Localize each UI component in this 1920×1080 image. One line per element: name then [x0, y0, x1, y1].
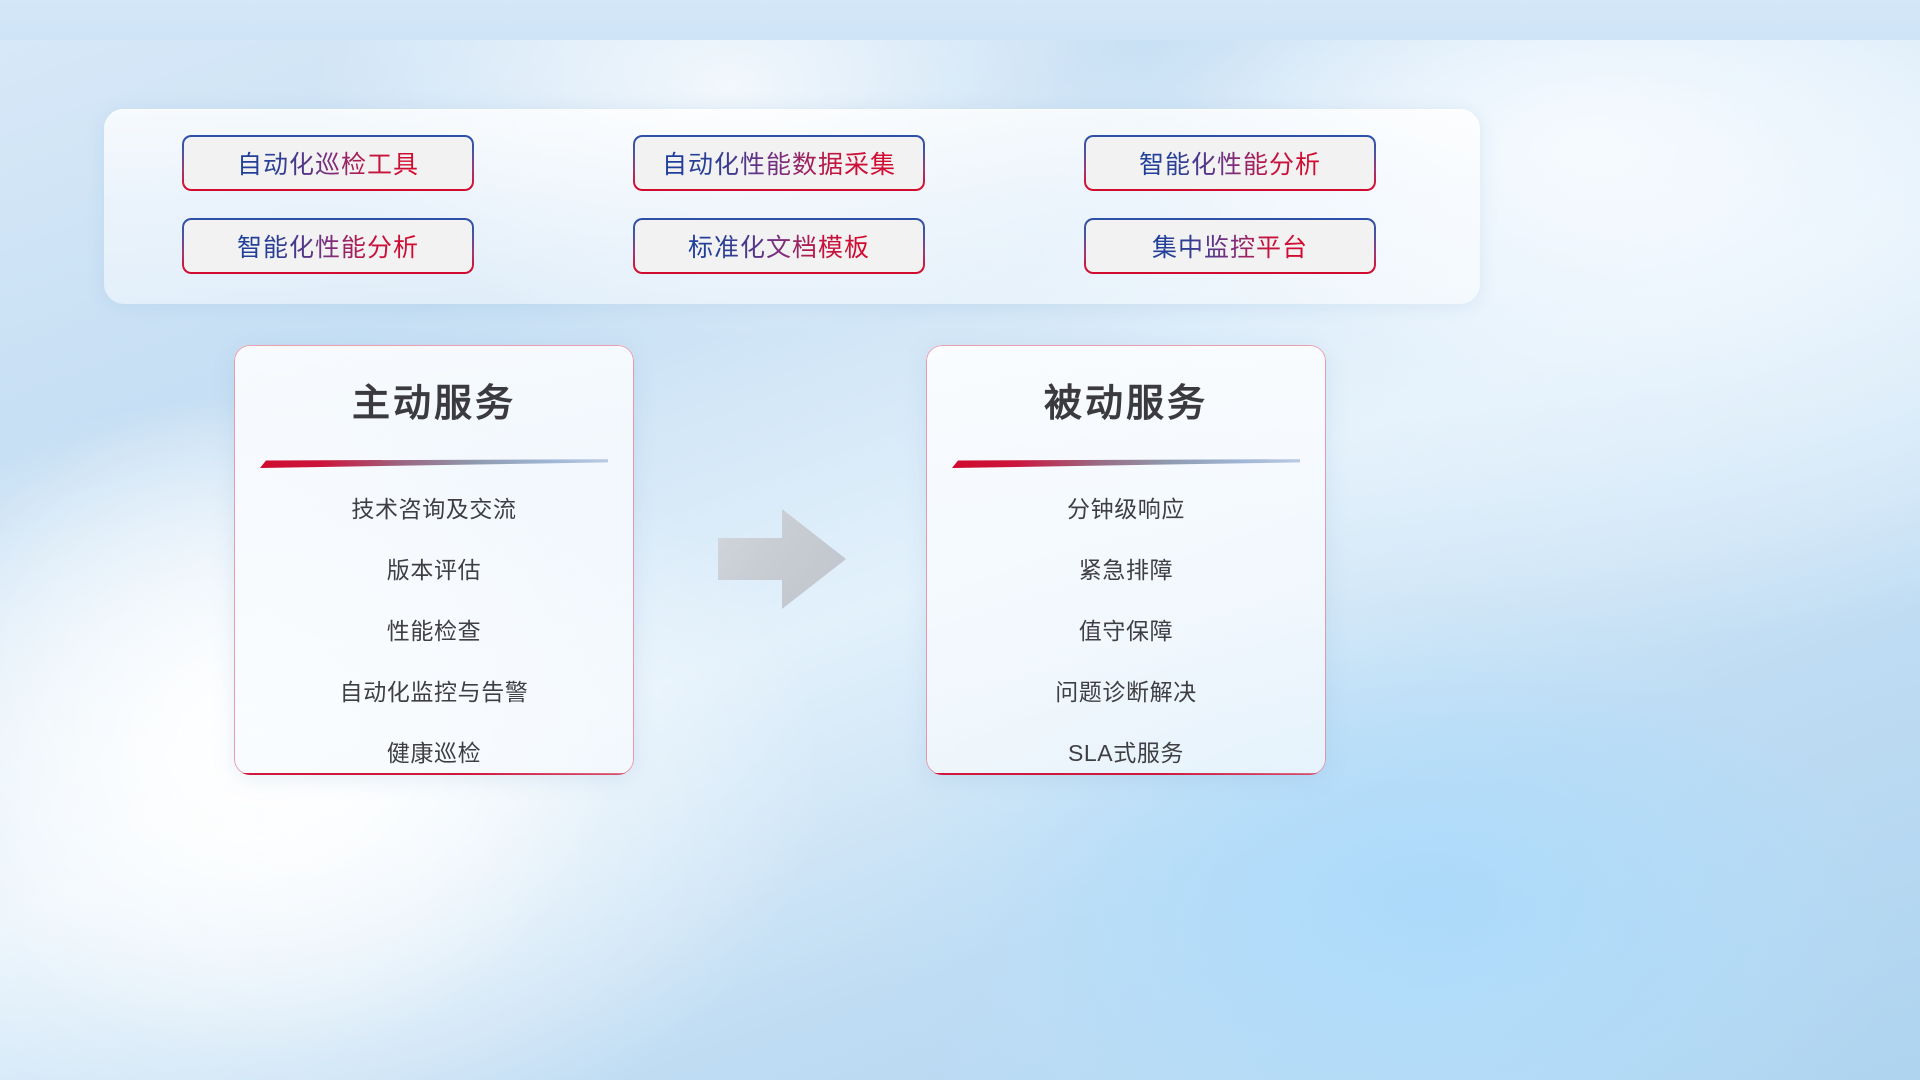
capability-panel: 自动化巡检工具 自动化性能数据采集 智能化性能分析 智能化性能分析 标准化文档模…: [104, 109, 1480, 304]
list-item: 紧急排障: [926, 559, 1326, 582]
capability-tag-1[interactable]: 自动化巡检工具: [182, 135, 474, 191]
list-item: SLA式服务: [926, 742, 1326, 765]
capability-tag-4[interactable]: 智能化性能分析: [182, 218, 474, 274]
list-item: 技术咨询及交流: [234, 498, 634, 521]
capability-tag-label: 集中监控平台: [1152, 228, 1308, 264]
capability-tag-5[interactable]: 标准化文档模板: [633, 218, 925, 274]
list-item: 问题诊断解决: [926, 681, 1326, 704]
card-list-active: 技术咨询及交流 版本评估 性能检查 自动化监控与告警 健康巡检: [234, 498, 634, 765]
list-item: 值守保障: [926, 620, 1326, 643]
service-card-passive: 被动服务 分钟级响应 紧急排障 值守保障 问题诊断解决 SLA式服务: [926, 345, 1326, 775]
service-card-active: 主动服务 技术咨询及交流 版本评估 性能检查 自动化监控与告警 健康巡检: [234, 345, 634, 775]
card-divider-passive: [952, 459, 1300, 468]
card-title-passive: 被动服务: [926, 372, 1326, 427]
list-item: 版本评估: [234, 559, 634, 582]
card-title-active: 主动服务: [234, 372, 634, 427]
capability-tag-3[interactable]: 智能化性能分析: [1084, 135, 1376, 191]
arrow-right-icon: [716, 505, 848, 613]
list-item: 自动化监控与告警: [234, 681, 634, 704]
capability-tag-label: 智能化性能分析: [1139, 145, 1321, 181]
capability-tag-6[interactable]: 集中监控平台: [1084, 218, 1376, 274]
capability-tag-label: 自动化性能数据采集: [662, 145, 896, 181]
background-top-strip: [0, 0, 1920, 40]
capability-tag-grid: 自动化巡检工具 自动化性能数据采集 智能化性能分析 智能化性能分析 标准化文档模…: [182, 135, 1402, 274]
card-list-passive: 分钟级响应 紧急排障 值守保障 问题诊断解决 SLA式服务: [926, 498, 1326, 765]
list-item: 性能检查: [234, 620, 634, 643]
capability-tag-label: 智能化性能分析: [237, 228, 419, 264]
capability-tag-2[interactable]: 自动化性能数据采集: [633, 135, 925, 191]
list-item: 健康巡检: [234, 742, 634, 765]
capability-tag-label: 标准化文档模板: [688, 228, 870, 264]
card-divider-active: [260, 459, 608, 468]
capability-tag-label: 自动化巡检工具: [237, 145, 419, 181]
list-item: 分钟级响应: [926, 498, 1326, 521]
